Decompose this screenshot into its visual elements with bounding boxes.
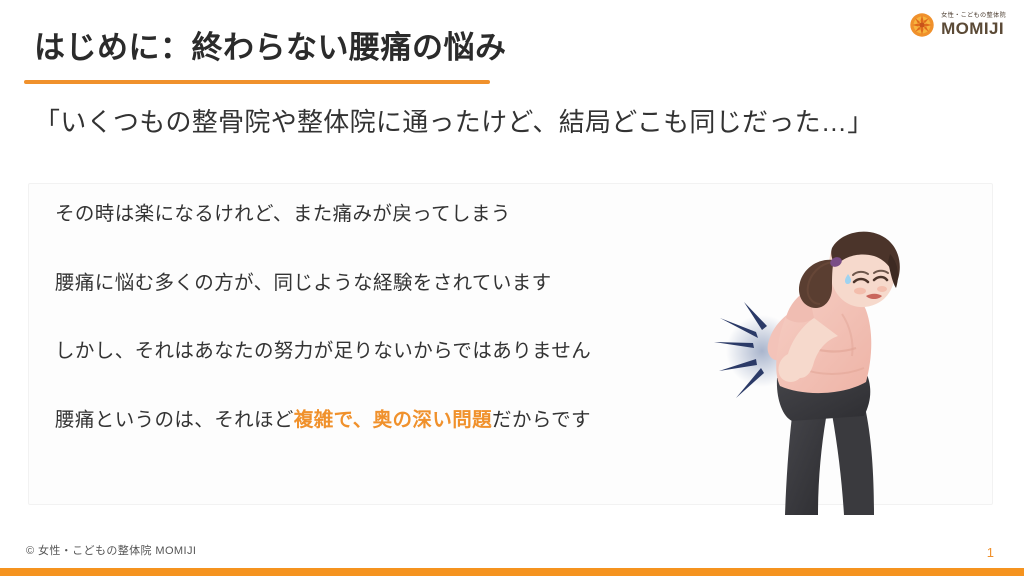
list-item-suffix: だからです — [492, 409, 591, 431]
title-underline-rule — [24, 80, 490, 84]
list-item: 腰痛というのは、それほど複雑で、奥の深い問題だからです — [55, 411, 735, 431]
bullet-list: その時は楽になるけれど、また痛みが戻ってしまう 腰痛に悩む多くの方が、同じような… — [55, 205, 735, 430]
woman-with-back-pain-illustration — [714, 226, 949, 516]
page-number: 1 — [987, 545, 994, 560]
highlighted-phrase: 複雑で、奥の深い問題 — [294, 409, 492, 431]
brand-logo: 女性・こどもの整体院 MOMIJI — [909, 12, 1006, 38]
list-item: 腰痛に悩む多くの方が、同じような経験をされています — [55, 274, 735, 294]
logo-name: MOMIJI — [941, 20, 1004, 37]
list-item-prefix: 腰痛というのは、それほど — [55, 409, 294, 431]
slide-canvas: 女性・こどもの整体院 MOMIJI はじめに：終わらない腰痛の悩み 「いくつもの… — [0, 0, 1024, 576]
list-item: その時は楽になるけれど、また痛みが戻ってしまう — [55, 205, 735, 225]
subtitle-quote: 「いくつもの整骨院や整体院に通ったけど、結局どこも同じだった…」 — [34, 102, 874, 139]
footer-accent-bar — [0, 568, 1024, 576]
list-item: しかし、それはあなたの努力が足りないからではありません — [55, 342, 735, 362]
maple-leaf-icon — [909, 12, 935, 38]
footer-copyright: © 女性・こどもの整体院 MOMIJI — [26, 542, 196, 558]
page-title: はじめに：終わらない腰痛の悩み — [34, 22, 507, 67]
